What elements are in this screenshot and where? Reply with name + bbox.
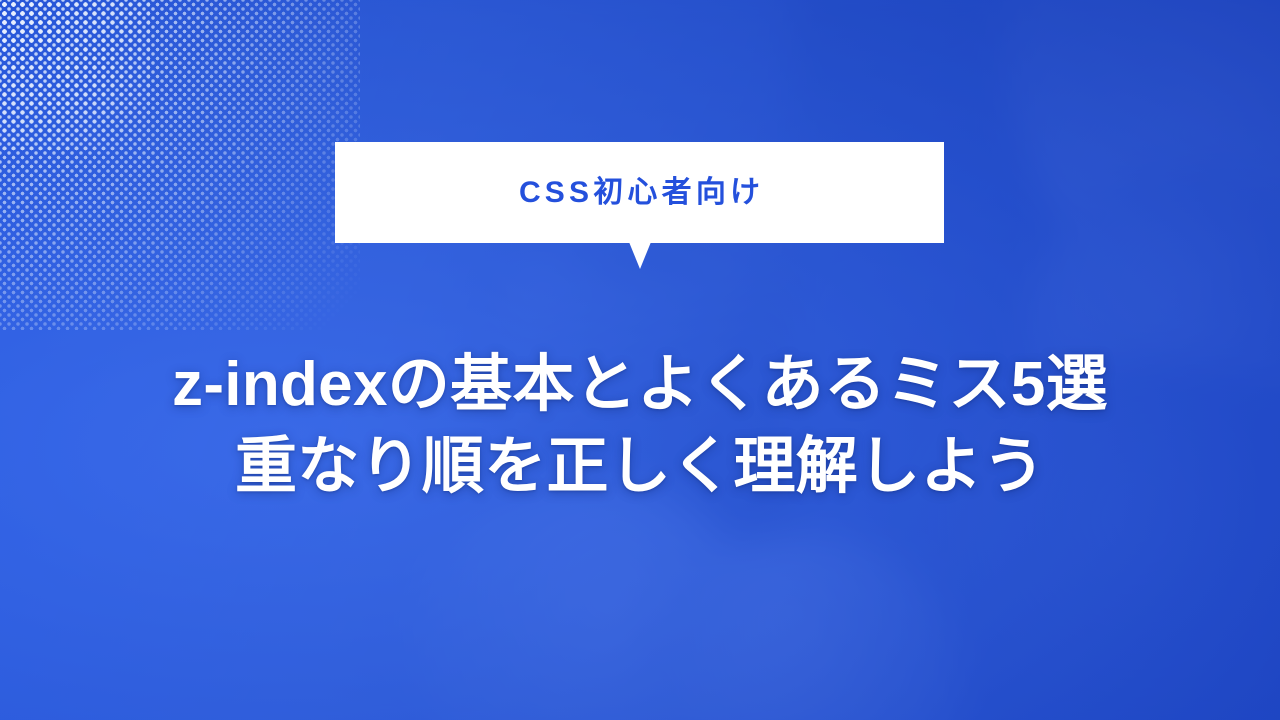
thumbnail-card: CSS初心者向け z-indexの基本とよくあるミス5選 重なり順を正しく理解し… [0, 0, 1280, 720]
category-badge-label: CSS初心者向け [515, 178, 764, 208]
page-title-line-2: 重なり順を正しく理解しよう [0, 431, 1280, 503]
category-badge: CSS初心者向け [335, 142, 944, 243]
page-title-line-1: z-indexの基本とよくあるミス5選 [0, 349, 1280, 421]
page-title: z-indexの基本とよくあるミス5選 重なり順を正しく理解しよう [0, 349, 1280, 503]
category-badge-tail [629, 242, 651, 269]
card-content: CSS初心者向け z-indexの基本とよくあるミス5選 重なり順を正しく理解し… [0, 0, 1280, 720]
